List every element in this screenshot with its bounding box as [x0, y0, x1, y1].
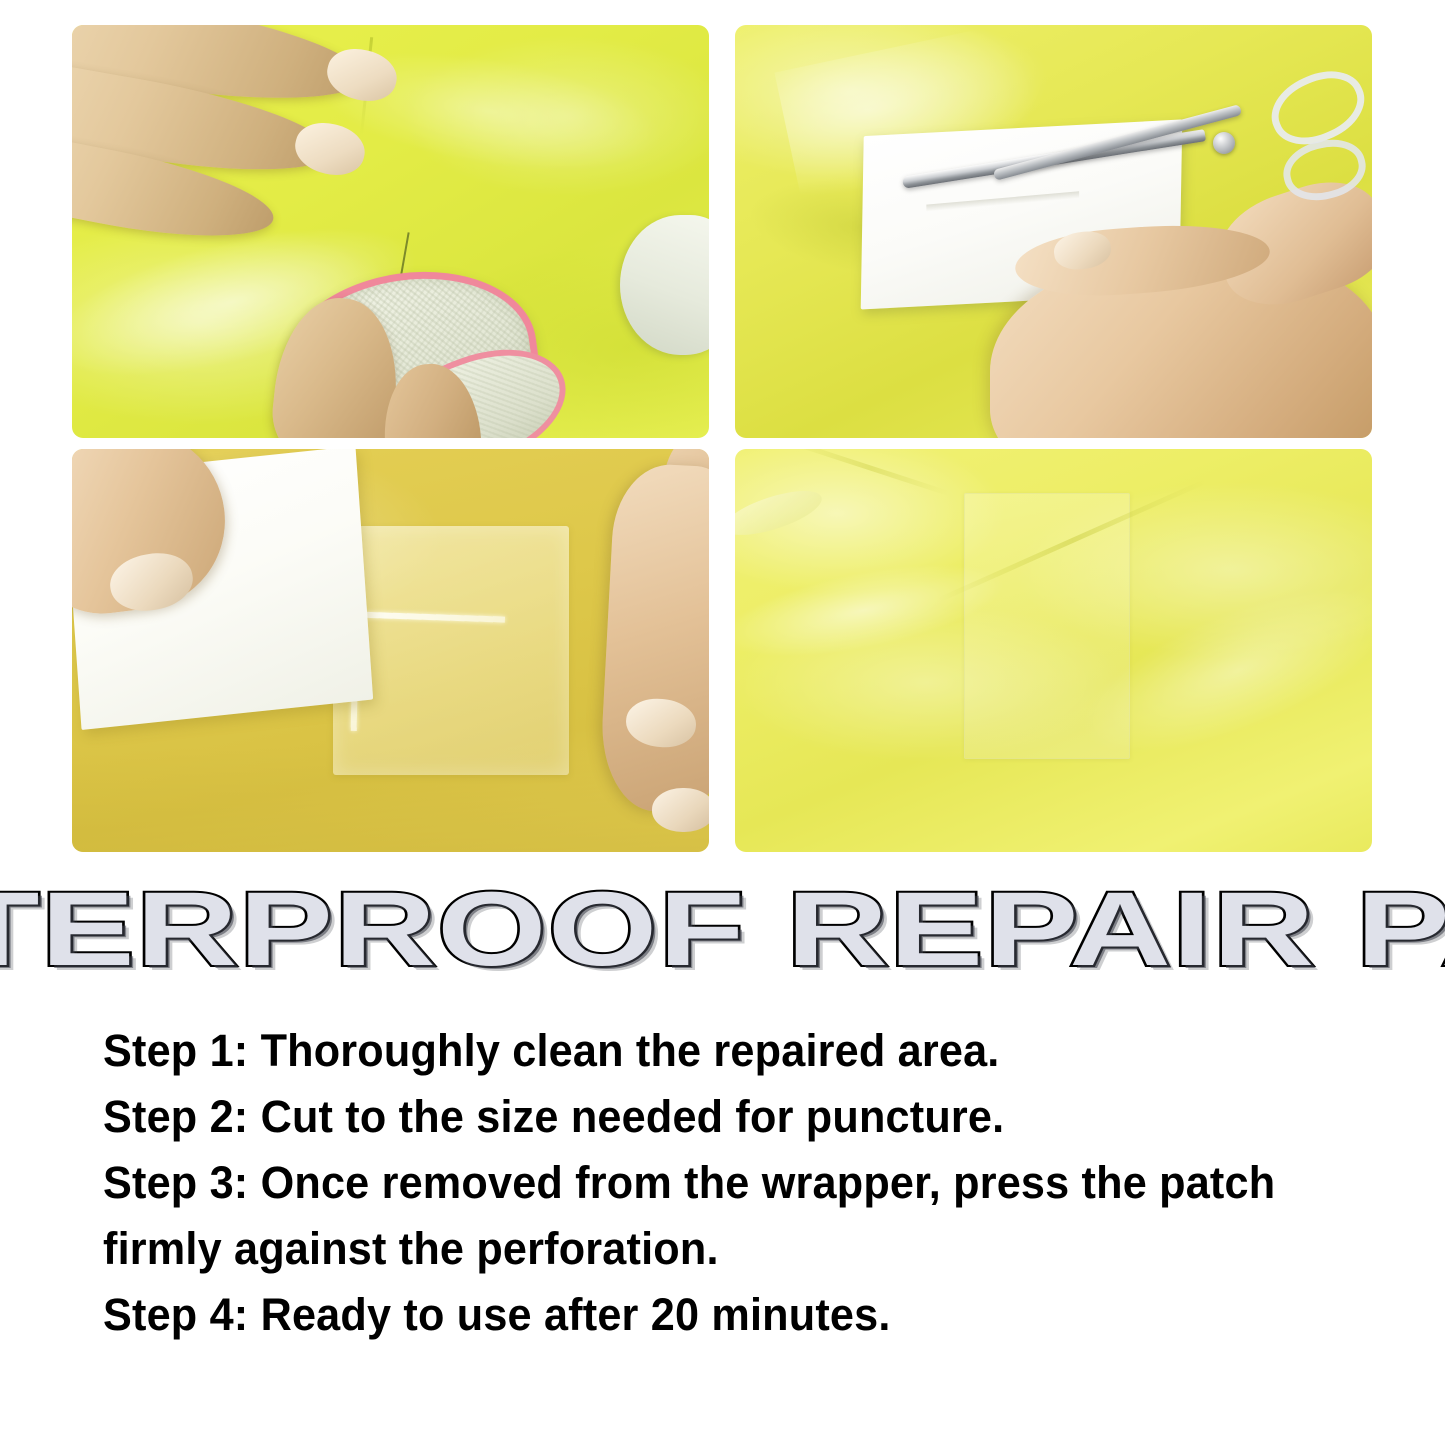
fingernail [652, 788, 709, 832]
photo-panel-step-4 [735, 449, 1372, 852]
product-title: WATERPROOF REPAIR PATCH [0, 880, 1445, 980]
instruction-step-2: Step 2: Cut to the size needed for punct… [103, 1084, 1303, 1150]
photo-panel-step-2 [735, 25, 1372, 438]
instruction-step-3: Step 3: Once removed from the wrapper, p… [103, 1150, 1303, 1282]
patch-crease [926, 192, 1079, 212]
photo-panel-step-3 [72, 449, 709, 852]
surface-wrinkle [735, 482, 827, 544]
title-banner: WATERPROOF REPAIR PATCH [0, 880, 1445, 980]
product-instruction-infographic: WATERPROOF REPAIR PATCH Step 1: Thorough… [0, 0, 1445, 1445]
scissors-pivot-screw [1213, 132, 1235, 154]
finger [598, 462, 709, 815]
instruction-steps: Step 1: Thoroughly clean the repaired ar… [103, 1018, 1353, 1348]
white-object [620, 215, 709, 355]
photo-grid [72, 25, 1372, 852]
surface-crease [789, 449, 948, 496]
instruction-step-4: Step 4: Ready to use after 20 minutes. [103, 1282, 1303, 1348]
photo-panel-step-1 [72, 25, 709, 438]
instruction-step-1: Step 1: Thoroughly clean the repaired ar… [103, 1018, 1303, 1084]
